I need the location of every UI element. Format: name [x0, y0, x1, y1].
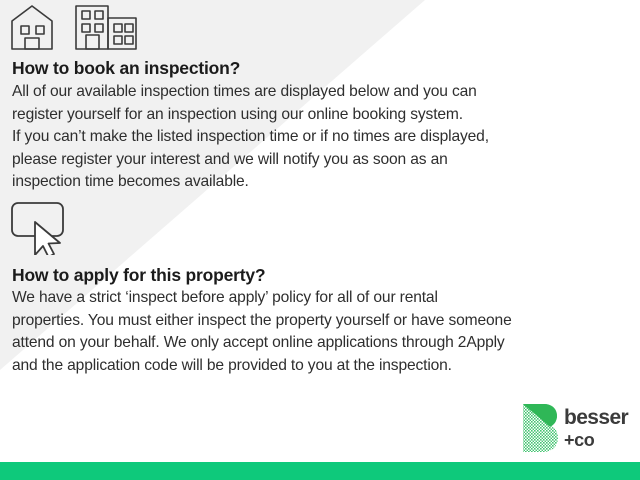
- besser-co-logo: besser +co: [522, 400, 632, 456]
- logo-word-besser: besser: [564, 407, 628, 428]
- click-icon-group: [10, 200, 80, 255]
- paragraph-line: attend on your behalf. We only accept on…: [12, 332, 637, 355]
- paragraph-how-to-book: All of our available inspection times ar…: [12, 81, 637, 194]
- mouse-pointer-shape: [35, 222, 60, 255]
- paragraph-line: inspection time becomes available.: [12, 171, 637, 194]
- paragraph-how-to-apply: We have a strict ‘inspect before apply’ …: [12, 287, 637, 377]
- heading-how-to-apply: How to apply for this property?: [12, 265, 265, 286]
- logo-wordmark: besser +co: [564, 407, 628, 449]
- apartment-building-icon: [76, 6, 136, 49]
- heading-how-to-book: How to book an inspection?: [12, 58, 240, 79]
- paragraph-line: please register your interest and we wil…: [12, 149, 637, 172]
- paragraph-line: We have a strict ‘inspect before apply’ …: [12, 287, 637, 310]
- paragraph-line: and the application code will be provide…: [12, 355, 637, 378]
- paragraph-line: register yourself for an inspection usin…: [12, 104, 637, 127]
- house-icon: [12, 6, 52, 49]
- paragraph-line: properties. You must either inspect the …: [12, 310, 637, 333]
- property-icons-svg: [10, 4, 140, 52]
- inspection-info-panel: How to book an inspection? All of our av…: [0, 0, 640, 480]
- paragraph-line: All of our available inspection times ar…: [12, 81, 637, 104]
- bottom-accent-bar: [0, 462, 640, 480]
- logo-word-plusco: +co: [564, 431, 628, 449]
- besser-b-mark-icon: [522, 403, 558, 453]
- property-icons-group: [10, 4, 140, 52]
- paragraph-line: If you can’t make the listed inspection …: [12, 126, 637, 149]
- click-cursor-icon: [10, 200, 80, 255]
